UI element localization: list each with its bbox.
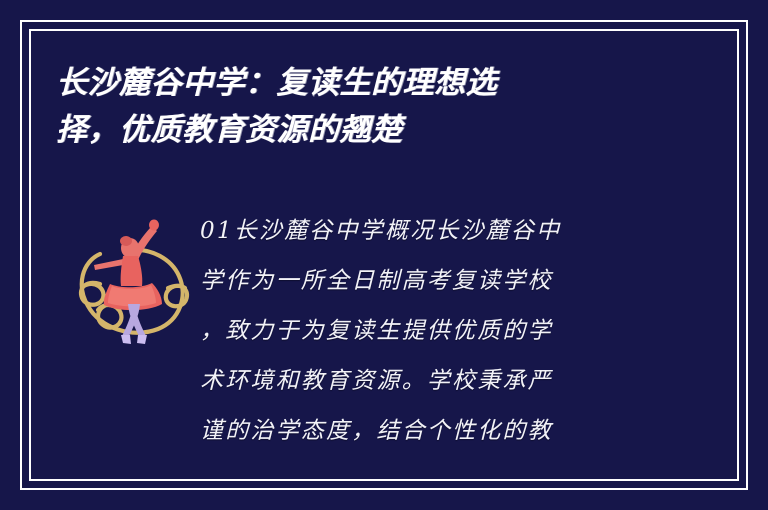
body-paragraph: 01长沙麓谷中学概况长沙麓谷中 学作为一所全日制高考复读学校 ，致力于为复读生提…	[200, 206, 670, 456]
body-line-1: 01长沙麓谷中学概况长沙麓谷中	[200, 206, 670, 256]
title-line-2: 择，优质教育资源的翘楚	[56, 107, 656, 154]
poster-canvas: 长沙麓谷中学：复读生的理想选 择，优质教育资源的翘楚	[0, 0, 768, 510]
body-line-2: 学作为一所全日制高考复读学校	[200, 256, 670, 306]
title-line-1: 长沙麓谷中学：复读生的理想选	[56, 60, 656, 107]
ballerina-icon	[72, 208, 192, 350]
body-line-3: ，致力于为复读生提供优质的学	[200, 306, 670, 356]
page-title: 长沙麓谷中学：复读生的理想选 择，优质教育资源的翘楚	[56, 60, 656, 154]
body-line-4: 术环境和教育资源。学校秉承严	[200, 356, 670, 406]
body-line-5: 谨的治学态度，结合个性化的教	[200, 406, 670, 456]
